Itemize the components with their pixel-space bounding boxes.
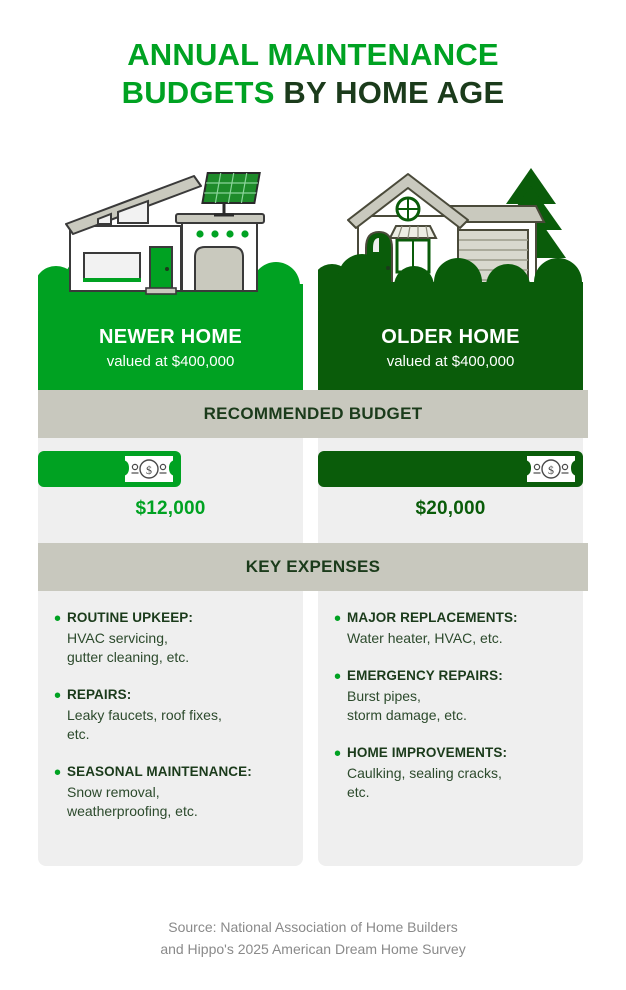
bullet-icon: • xyxy=(54,763,67,821)
list-item: • MAJOR REPLACEMENTS: Water heater, HVAC… xyxy=(334,609,567,648)
expense-title: ROUTINE UPKEEP: xyxy=(67,609,287,627)
svg-text:$: $ xyxy=(548,463,554,477)
newer-budget-panel: $ $12,000 xyxy=(38,438,303,543)
newer-home-name: NEWER HOME xyxy=(38,325,303,349)
bullet-icon: • xyxy=(334,744,347,802)
band-key-expenses: KEY EXPENSES xyxy=(38,543,588,591)
bullet-icon: • xyxy=(54,686,67,744)
expense-desc: Leaky faucets, roof fixes, etc. xyxy=(67,706,287,744)
expense-desc: Snow removal, weatherproofing, etc. xyxy=(67,783,287,821)
title-line-1: ANNUAL MAINTENANCE xyxy=(0,36,626,74)
modern-house-with-solar-panel-icon xyxy=(38,160,303,310)
older-home-illustration-wrap xyxy=(318,160,583,305)
title-line-2: BUDGETS BY HOME AGE xyxy=(0,74,626,112)
newer-budget-bar: $ xyxy=(38,451,181,487)
older-budget-amount: $20,000 xyxy=(318,498,583,520)
expense-desc: Caulking, sealing cracks, etc. xyxy=(347,764,567,802)
band-key-expenses-label: KEY EXPENSES xyxy=(246,557,381,577)
expense-title: EMERGENCY REPAIRS: xyxy=(347,667,567,685)
band-recommended-budget: RECOMMENDED BUDGET xyxy=(38,390,588,438)
title-by-home-age-word: BY HOME AGE xyxy=(283,75,504,110)
expenses-row: • ROUTINE UPKEEP: HVAC servicing, gutter… xyxy=(38,591,588,866)
expense-title: REPAIRS: xyxy=(67,686,287,704)
source-footer: Source: National Association of Home Bui… xyxy=(0,916,626,960)
list-item: • REPAIRS: Leaky faucets, roof fixes, et… xyxy=(54,686,287,744)
column-newer-home: NEWER HOME valued at $400,000 xyxy=(38,160,303,390)
list-item: • EMERGENCY REPAIRS: Burst pipes, storm … xyxy=(334,667,567,725)
comparison-grid: NEWER HOME valued at $400,000 xyxy=(38,160,588,866)
list-item: • HOME IMPROVEMENTS: Caulking, sealing c… xyxy=(334,744,567,802)
bullet-icon: • xyxy=(334,667,347,725)
budget-cell-newer: $ $12,000 xyxy=(38,438,303,543)
traditional-house-with-garage-and-tree-icon xyxy=(318,160,583,310)
page-title: ANNUAL MAINTENANCE BUDGETS BY HOME AGE xyxy=(0,36,626,112)
older-home-card: OLDER HOME valued at $400,000 xyxy=(318,305,583,390)
dollar-bill-icon: $ xyxy=(525,454,577,484)
dollar-bill-icon: $ xyxy=(123,454,175,484)
home-header-row: NEWER HOME valued at $400,000 xyxy=(38,160,588,390)
bullet-icon: • xyxy=(54,609,67,667)
infographic-page: ANNUAL MAINTENANCE BUDGETS BY HOME AGE xyxy=(0,0,626,990)
newer-expenses-panel: • ROUTINE UPKEEP: HVAC servicing, gutter… xyxy=(38,591,303,866)
older-budget-panel: $ $20,000 xyxy=(318,438,583,543)
expense-desc: HVAC servicing, gutter cleaning, etc. xyxy=(67,629,287,667)
expense-desc: Water heater, HVAC, etc. xyxy=(347,629,567,648)
bullet-icon: • xyxy=(334,609,347,648)
older-home-value: valued at $400,000 xyxy=(318,352,583,372)
newer-home-card: NEWER HOME valued at $400,000 xyxy=(38,305,303,390)
expense-title: SEASONAL MAINTENANCE: xyxy=(67,763,287,781)
older-budget-bar: $ xyxy=(318,451,583,487)
newer-home-illustration-wrap xyxy=(38,160,303,305)
expense-title: MAJOR REPLACEMENTS: xyxy=(347,609,567,627)
expense-title: HOME IMPROVEMENTS: xyxy=(347,744,567,762)
newer-home-value: valued at $400,000 xyxy=(38,352,303,372)
budget-row: $ $12,000 xyxy=(38,438,588,543)
expenses-cell-older: • MAJOR REPLACEMENTS: Water heater, HVAC… xyxy=(318,591,583,866)
budget-cell-older: $ $20,000 xyxy=(318,438,583,543)
title-budgets-word: BUDGETS xyxy=(122,75,275,110)
list-item: • ROUTINE UPKEEP: HVAC servicing, gutter… xyxy=(54,609,287,667)
expense-desc: Burst pipes, storm damage, etc. xyxy=(347,687,567,725)
column-older-home: OLDER HOME valued at $400,000 xyxy=(318,160,583,390)
svg-text:$: $ xyxy=(146,463,152,477)
band-recommended-budget-label: RECOMMENDED BUDGET xyxy=(204,404,423,424)
newer-budget-amount: $12,000 xyxy=(38,498,303,520)
older-home-name: OLDER HOME xyxy=(318,325,583,349)
older-expenses-panel: • MAJOR REPLACEMENTS: Water heater, HVAC… xyxy=(318,591,583,866)
list-item: • SEASONAL MAINTENANCE: Snow removal, we… xyxy=(54,763,287,821)
expenses-cell-newer: • ROUTINE UPKEEP: HVAC servicing, gutter… xyxy=(38,591,303,866)
